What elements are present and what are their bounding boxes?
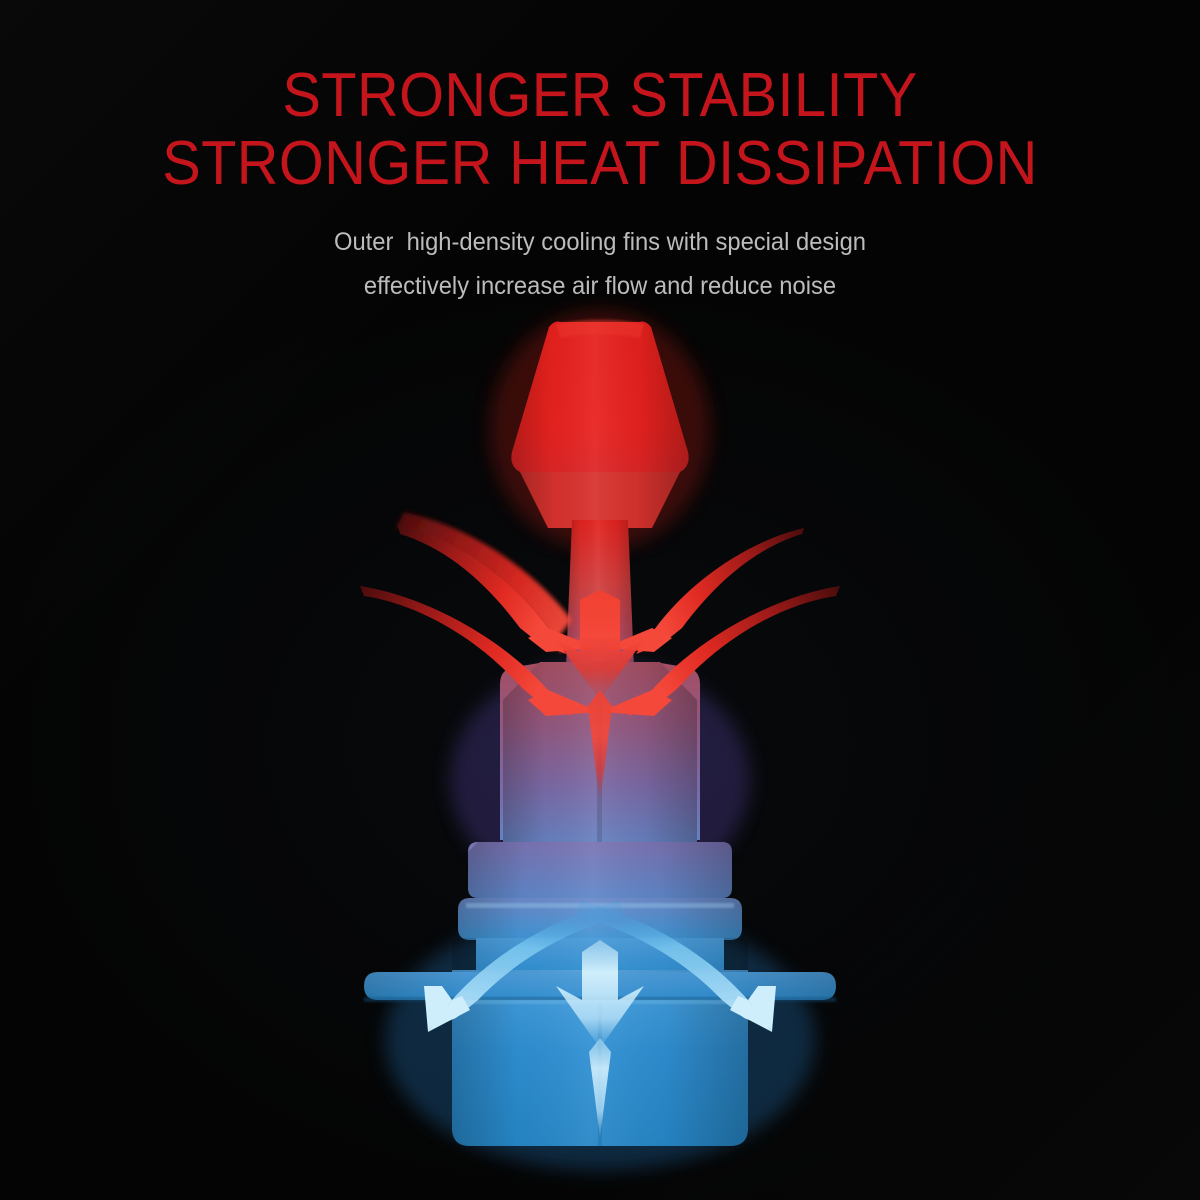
head-shoulder: [520, 472, 680, 528]
subheadline-line-2: effectively increase air flow and reduce…: [30, 264, 1170, 308]
headline-line-1: STRONGER STABILITY: [42, 66, 1158, 126]
marketing-copy: STRONGER STABILITY STRONGER HEAT DISSIPA…: [0, 0, 1200, 308]
collar-ring-upper: [468, 842, 732, 898]
subheadline-line-1: Outer high-density cooling fins with spe…: [30, 220, 1170, 264]
headline-line-2: STRONGER HEAT DISSIPATION: [42, 134, 1158, 194]
product-feature-banner: STRONGER STABILITY STRONGER HEAT DISSIPA…: [0, 0, 1200, 1200]
